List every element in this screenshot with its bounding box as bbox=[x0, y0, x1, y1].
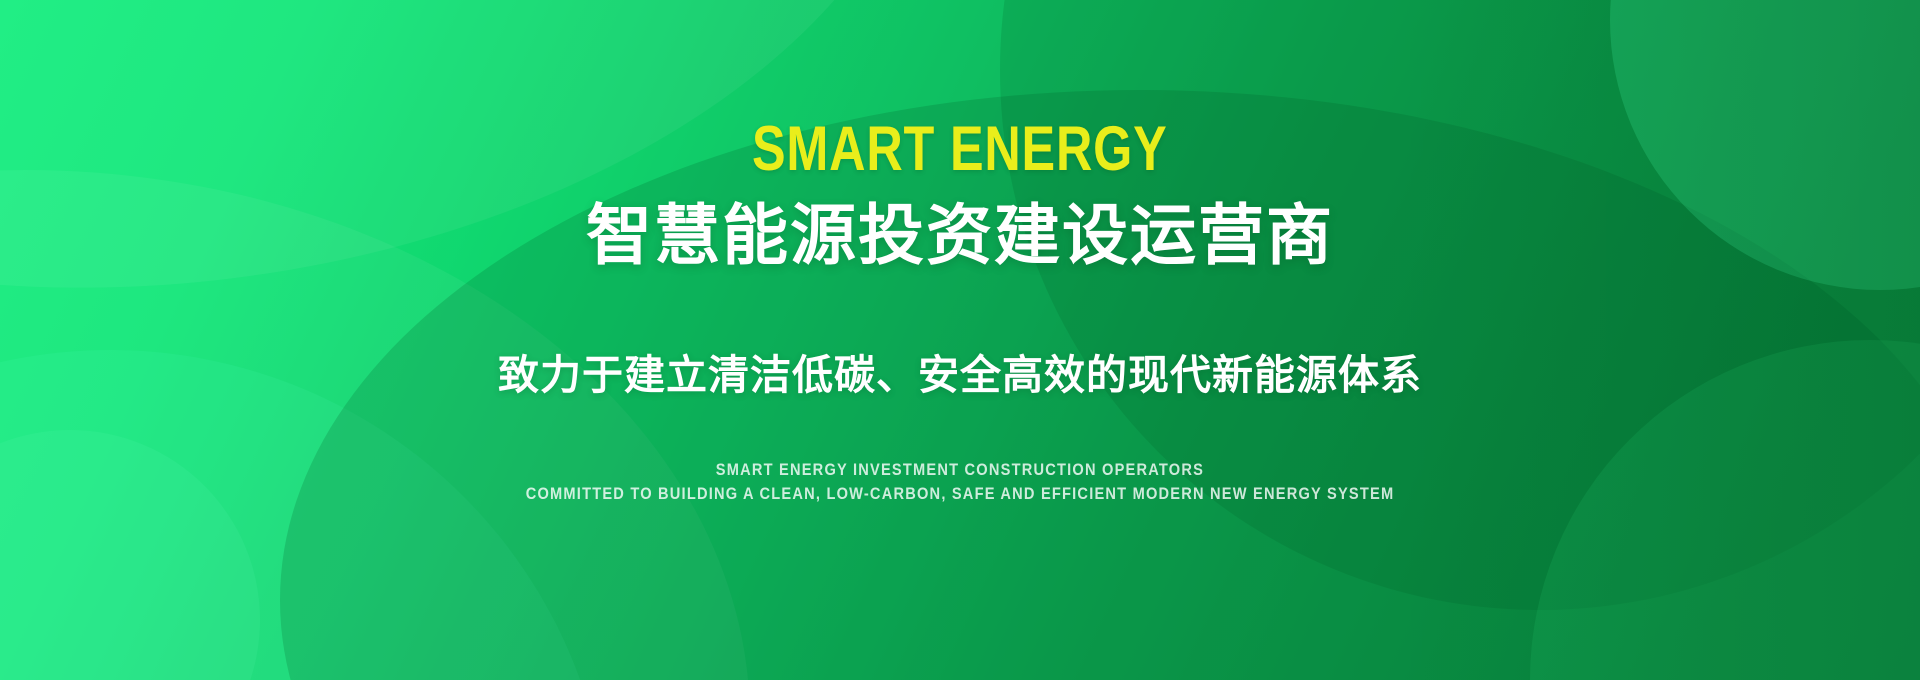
banner-eyebrow-smart-energy: SMART ENERGY bbox=[752, 118, 1168, 181]
hero-banner: SMART ENERGY 智慧能源投资建设运营商 致力于建立清洁低碳、安全高效的… bbox=[0, 0, 1920, 680]
banner-english-line-1: SMART ENERGY INVESTMENT CONSTRUCTION OPE… bbox=[716, 461, 1204, 478]
banner-english-line-2: COMMITTED TO BUILDING A CLEAN, LOW-CARBO… bbox=[526, 485, 1395, 502]
banner-english-caption-block: SMART ENERGY INVESTMENT CONSTRUCTION OPE… bbox=[455, 461, 1465, 502]
banner-headline-chinese: 智慧能源投资建设运营商 bbox=[586, 202, 1334, 268]
banner-subheadline-chinese: 致力于建立清洁低碳、安全高效的现代新能源体系 bbox=[498, 355, 1422, 396]
banner-content: SMART ENERGY 智慧能源投资建设运营商 致力于建立清洁低碳、安全高效的… bbox=[0, 0, 1920, 680]
